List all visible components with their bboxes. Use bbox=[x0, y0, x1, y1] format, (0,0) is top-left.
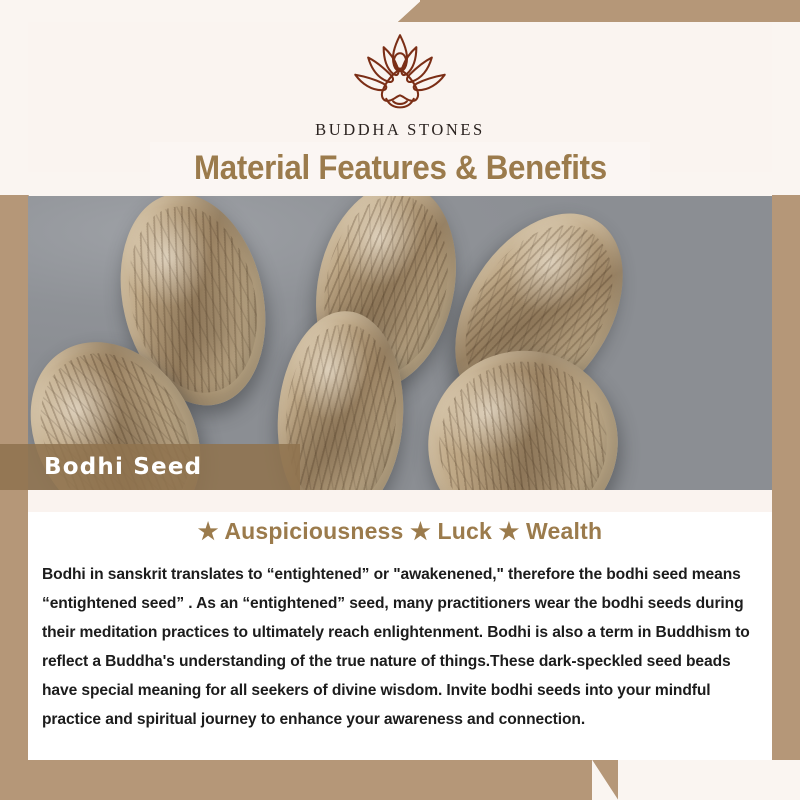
page-title: Material Features & Benefits bbox=[194, 149, 607, 188]
frame-band-right bbox=[772, 195, 800, 760]
frame-band-top-bevel bbox=[398, 0, 422, 22]
photo-caption-bar: Bodhi Seed bbox=[0, 444, 300, 490]
benefits-line: ★ Auspiciousness ★ Luck ★ Wealth bbox=[28, 518, 772, 545]
brand-name: BUDDHA STONES bbox=[315, 120, 485, 140]
description-paragraph: Bodhi in sanskrit translates to “entight… bbox=[42, 560, 758, 734]
infographic-page: BUDDHA STONES Material Features & Benefi… bbox=[0, 0, 800, 800]
description-panel: ★ Auspiciousness ★ Luck ★ Wealth Bodhi i… bbox=[28, 490, 772, 760]
panel-top-divider bbox=[28, 490, 772, 512]
frame-band-bottom bbox=[0, 760, 592, 800]
lotus-meditation-icon bbox=[348, 30, 452, 116]
photo-caption-text: Bodhi Seed bbox=[44, 454, 202, 480]
title-banner: Material Features & Benefits bbox=[150, 142, 650, 194]
frame-band-bottom-bevel bbox=[592, 760, 618, 800]
frame-band-top bbox=[420, 0, 800, 22]
brand-logo: BUDDHA STONES bbox=[28, 30, 772, 140]
